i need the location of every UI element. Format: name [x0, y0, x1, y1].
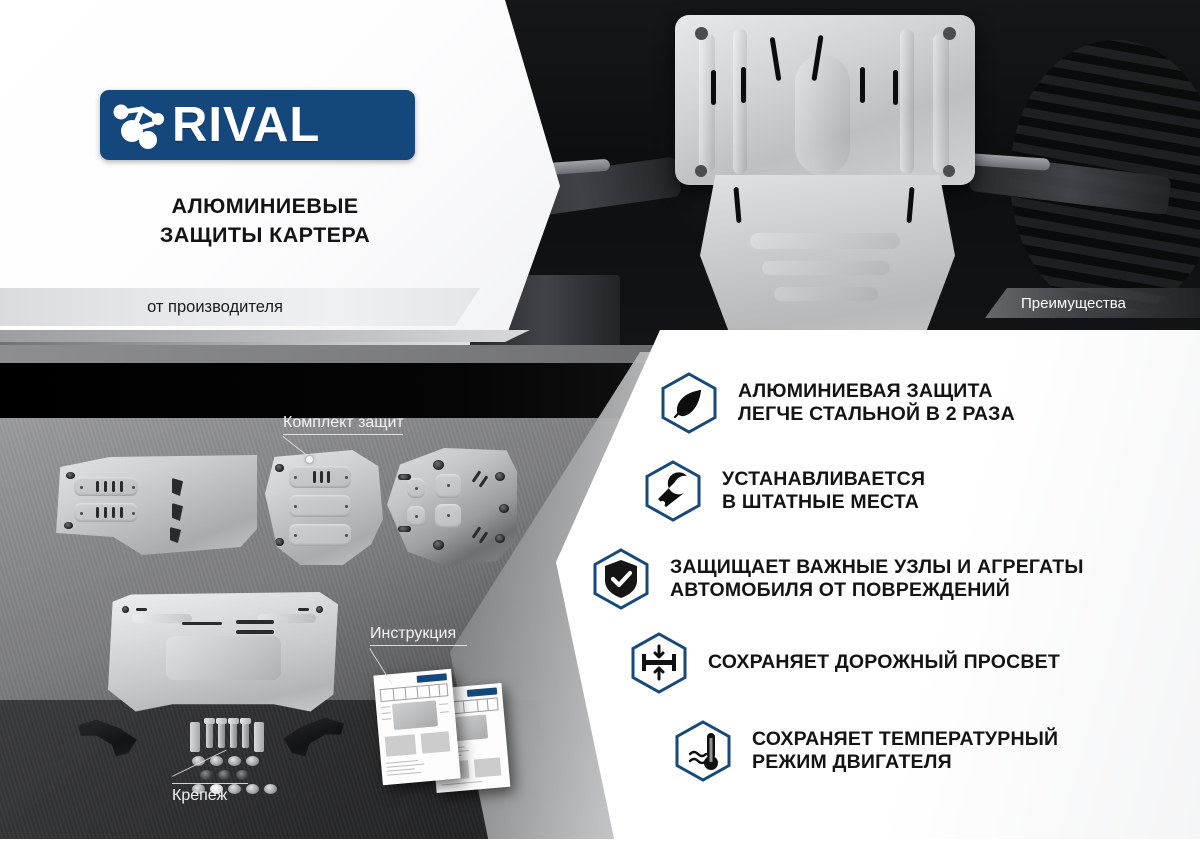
feature-line-2: В ШТАТНЫЕ МЕСТА — [722, 491, 925, 514]
feature-item-temperature: СОХРАНЯЕТ ТЕМПЕРАТУРНЫЙ РЕЖИМ ДВИГАТЕЛЯ — [674, 720, 1200, 782]
callout-fasteners: Крепеж — [172, 783, 248, 807]
skid-plate-right — [387, 448, 517, 566]
feature-line-1: СОХРАНЯЕТ ТЕМПЕРАТУРНЫЙ — [752, 728, 1058, 751]
callout-instruction-label: Инструкция — [370, 625, 467, 645]
leaf-icon — [660, 372, 718, 434]
clip — [190, 722, 200, 752]
feature-item-lightweight: АЛЮМИНИЕВАЯ ЗАЩИТА ЛЕГЧЕ СТАЛЬНОЙ В 2 РА… — [660, 372, 1200, 434]
bottom-border — [0, 839, 1200, 848]
clip — [254, 722, 264, 752]
thermometer-icon — [674, 720, 732, 782]
feature-line-1: УСТАНАВЛИВАЕТСЯ — [722, 468, 925, 491]
hero-bottom-edge — [0, 330, 530, 342]
advantages-tab[interactable]: Преимущества — [985, 288, 1200, 318]
callout-kit-label: Комплект защит — [283, 414, 404, 434]
hero-subtitle: от производителя — [0, 288, 430, 326]
feature-item-protects: ЗАЩИЩАЕТ ВАЖНЫЕ УЗЛЫ И АГРЕГАТЫ АВТОМОБИ… — [592, 548, 1200, 610]
bolt — [218, 722, 225, 748]
washer — [264, 784, 277, 794]
feature-text: УСТАНАВЛИВАЕТСЯ В ШТАТНЫЕ МЕСТА — [722, 468, 925, 515]
feature-line-1: ЗАЩИЩАЕТ ВАЖНЫЕ УЗЛЫ И АГРЕГАТЫ — [670, 556, 1084, 579]
ground-clearance-icon — [630, 632, 688, 694]
mounted-skid-plate-front — [675, 15, 975, 185]
logo-wordmark: RIVAL — [172, 101, 320, 150]
feature-text: СОХРАНЯЕТ ТЕМПЕРАТУРНЫЙ РЕЖИМ ДВИГАТЕЛЯ — [752, 728, 1058, 775]
hero-title-line-1: АЛЮМИНИЕВЫЕ — [100, 192, 430, 221]
feature-line-1: АЛЮМИНИЕВАЯ ЗАЩИТА — [738, 380, 1015, 403]
advantages-tab-label: Преимущества — [1021, 295, 1126, 312]
mounted-skid-plate-rear — [700, 175, 955, 350]
rival-logo[interactable]: RIVAL — [100, 90, 415, 160]
skid-plate-bottom — [108, 592, 338, 714]
features-list: АЛЮМИНИЕВАЯ ЗАЩИТА ЛЕГЧЕ СТАЛЬНОЙ В 2 РА… — [640, 352, 1200, 796]
feature-text: СОХРАНЯЕТ ДОРОЖНЫЙ ПРОСВЕТ — [708, 651, 1060, 674]
callout-kit: Комплект защит — [283, 414, 404, 435]
washer — [246, 756, 259, 766]
feature-item-clearance: СОХРАНЯЕТ ДОРОЖНЫЙ ПРОСВЕТ — [630, 632, 1200, 694]
washer — [228, 756, 241, 766]
feature-line-2: РЕЖИМ ДВИГАТЕЛЯ — [752, 751, 1058, 774]
bolt — [206, 722, 213, 748]
feature-item-install: УСТАНАВЛИВАЕТСЯ В ШТАТНЫЕ МЕСТА — [644, 460, 1200, 522]
washer-dark — [236, 770, 249, 780]
skid-plate-middle — [265, 450, 383, 565]
callout-fasteners-label: Крепеж — [172, 787, 248, 807]
bolt — [230, 722, 237, 748]
washer-dark — [200, 770, 213, 780]
bolt — [242, 722, 249, 748]
hero-title-line-2: ЗАЩИТЫ КАРТЕРА — [100, 221, 430, 250]
feature-line-1: СОХРАНЯЕТ ДОРОЖНЫЙ ПРОСВЕТ — [708, 651, 1060, 674]
callout-kit-dot — [306, 456, 313, 463]
poster-root: RIVAL АЛЮМИНИЕВЫЕ ЗАЩИТЫ КАРТЕРА от прои… — [0, 0, 1200, 848]
feature-line-2: АВТОМОБИЛЯ ОТ ПОВРЕЖДЕНИЙ — [670, 579, 1084, 602]
feature-text: АЛЮМИНИЕВАЯ ЗАЩИТА ЛЕГЧЕ СТАЛЬНОЙ В 2 РА… — [738, 380, 1015, 427]
callout-instruction: Инструкция — [370, 625, 467, 646]
feature-line-2: ЛЕГЧЕ СТАЛЬНОЙ В 2 РАЗА — [738, 403, 1015, 426]
wrench-icon — [644, 460, 702, 522]
shield-check-icon — [592, 548, 650, 610]
washer-dark — [218, 770, 231, 780]
page-title: АЛЮМИНИЕВЫЕ ЗАЩИТЫ КАРТЕРА — [100, 192, 430, 250]
feature-text: ЗАЩИЩАЕТ ВАЖНЫЕ УЗЛЫ И АГРЕГАТЫ АВТОМОБИ… — [670, 556, 1084, 603]
instruction-sheet-front — [373, 669, 460, 785]
hero-content: RIVAL АЛЮМИНИЕВЫЕ ЗАЩИТЫ КАРТЕРА от прои… — [0, 0, 600, 352]
molecule-icon — [108, 97, 170, 153]
